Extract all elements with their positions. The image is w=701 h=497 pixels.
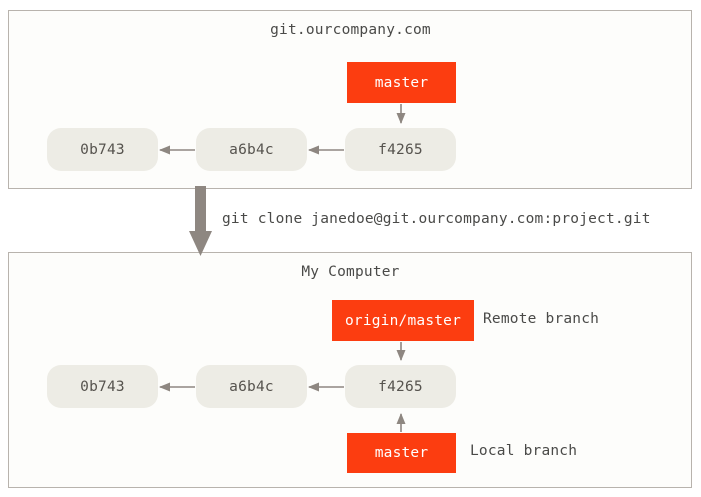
- local-branch-annotation: Local branch: [470, 443, 577, 459]
- commit-node: f4265: [345, 128, 456, 171]
- remote-branch-annotation: Remote branch: [483, 311, 599, 327]
- clone-down-arrow-icon: [189, 186, 212, 256]
- git-clone-diagram: git.ourcompany.com master 0b743 a6b4c f4…: [0, 0, 701, 497]
- remote-server-title: git.ourcompany.com: [0, 22, 701, 38]
- commit-node: a6b4c: [196, 128, 307, 171]
- commit-node: f4265: [345, 365, 456, 408]
- local-branch-origin-master-box: origin/master: [332, 300, 474, 341]
- commit-node: 0b743: [47, 128, 158, 171]
- local-computer-title: My Computer: [0, 264, 701, 280]
- commit-node: 0b743: [47, 365, 158, 408]
- remote-branch-master-box: master: [347, 62, 456, 103]
- clone-command-caption: git clone janedoe@git.ourcompany.com:pro…: [222, 211, 651, 227]
- local-branch-master-box: master: [347, 433, 456, 473]
- commit-node: a6b4c: [196, 365, 307, 408]
